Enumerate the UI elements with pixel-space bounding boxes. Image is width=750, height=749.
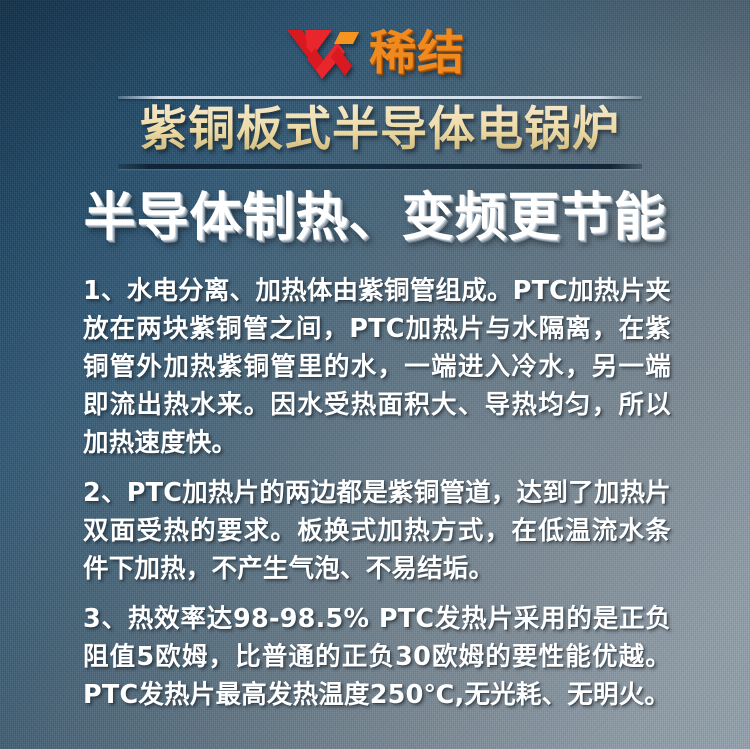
title-rule-bottom — [118, 164, 642, 169]
feature-description-list: 1、水电分离、加热体由紫铜管组成。PTC加热片夹放在两块紫铜管之间，PTC加热片… — [83, 272, 671, 714]
page-title: 紫铜板式半导体电锅炉 — [118, 99, 642, 163]
page-subtitle: 半导体制热、变频更节能 — [0, 186, 750, 250]
feature-paragraph-1: 1、水电分离、加热体由紫铜管组成。PTC加热片夹放在两块紫铜管之间，PTC加热片… — [83, 272, 671, 462]
brand-name: 稀结 — [369, 30, 465, 80]
xijie-x-mark-icon — [285, 26, 363, 84]
poster-content: 稀结 紫铜板式半导体电锅炉 半导体制热、变频更节能 1、水电分离、加热体由紫铜管… — [0, 0, 750, 749]
brand-logo: 稀结 — [0, 22, 750, 88]
title-block: 紫铜板式半导体电锅炉 — [118, 96, 642, 169]
product-poster: 稀结 紫铜板式半导体电锅炉 半导体制热、变频更节能 1、水电分离、加热体由紫铜管… — [0, 0, 750, 749]
feature-paragraph-2: 2、PTC加热片的两边都是紫铜管道，达到了加热片双面受热的要求。板换式加热方式，… — [83, 474, 671, 588]
feature-paragraph-3: 3、热效率达98-98.5% PTC发热片采用的是正负阻值5欧姆，比普通的正负3… — [83, 600, 671, 714]
